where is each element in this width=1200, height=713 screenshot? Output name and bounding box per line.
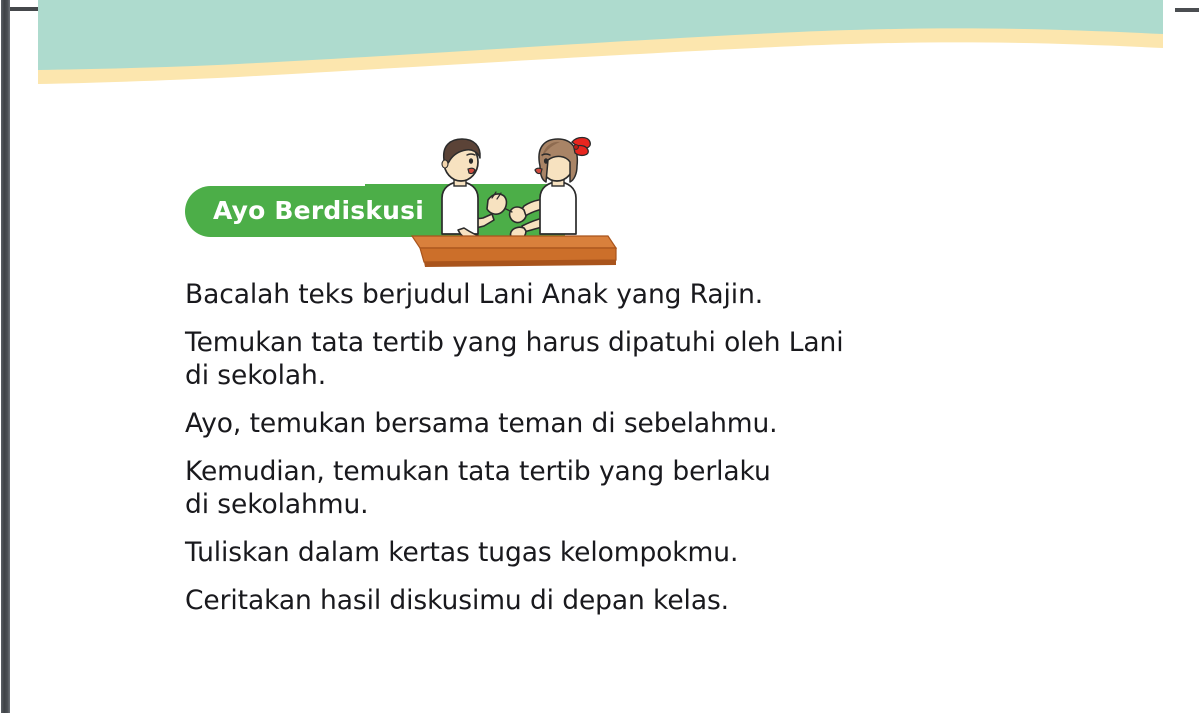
instruction-line: Ceritakan hasil diskusimu di depan kelas… [185,584,1045,617]
section-banner-label: Ayo Berdiskusi [213,194,513,228]
instruction-line: Temukan tata tertib yang harus dipatuhi … [185,326,1045,392]
wooden-desk-icon [412,236,616,267]
instruction-line: Ayo, temukan bersama teman di sebelahmu. [185,407,1045,440]
page-content: Ayo Berdiskusi Bacalah teks berjudul Lan… [0,0,1200,713]
section-header-group: Ayo Berdiskusi [185,136,615,276]
textbook-page: Ayo Berdiskusi Bacalah teks berjudul Lan… [0,0,1200,713]
instruction-line: Tuliskan dalam kertas tugas kelompokmu. [185,536,1045,569]
instruction-line: Bacalah teks berjudul Lani Anak yang Raj… [185,278,1045,311]
red-ribbon-icon [572,138,590,156]
instruction-list: Bacalah teks berjudul Lani Anak yang Raj… [185,278,1045,617]
instruction-line: Kemudian, temukan tata tertib yang berla… [185,455,1045,521]
